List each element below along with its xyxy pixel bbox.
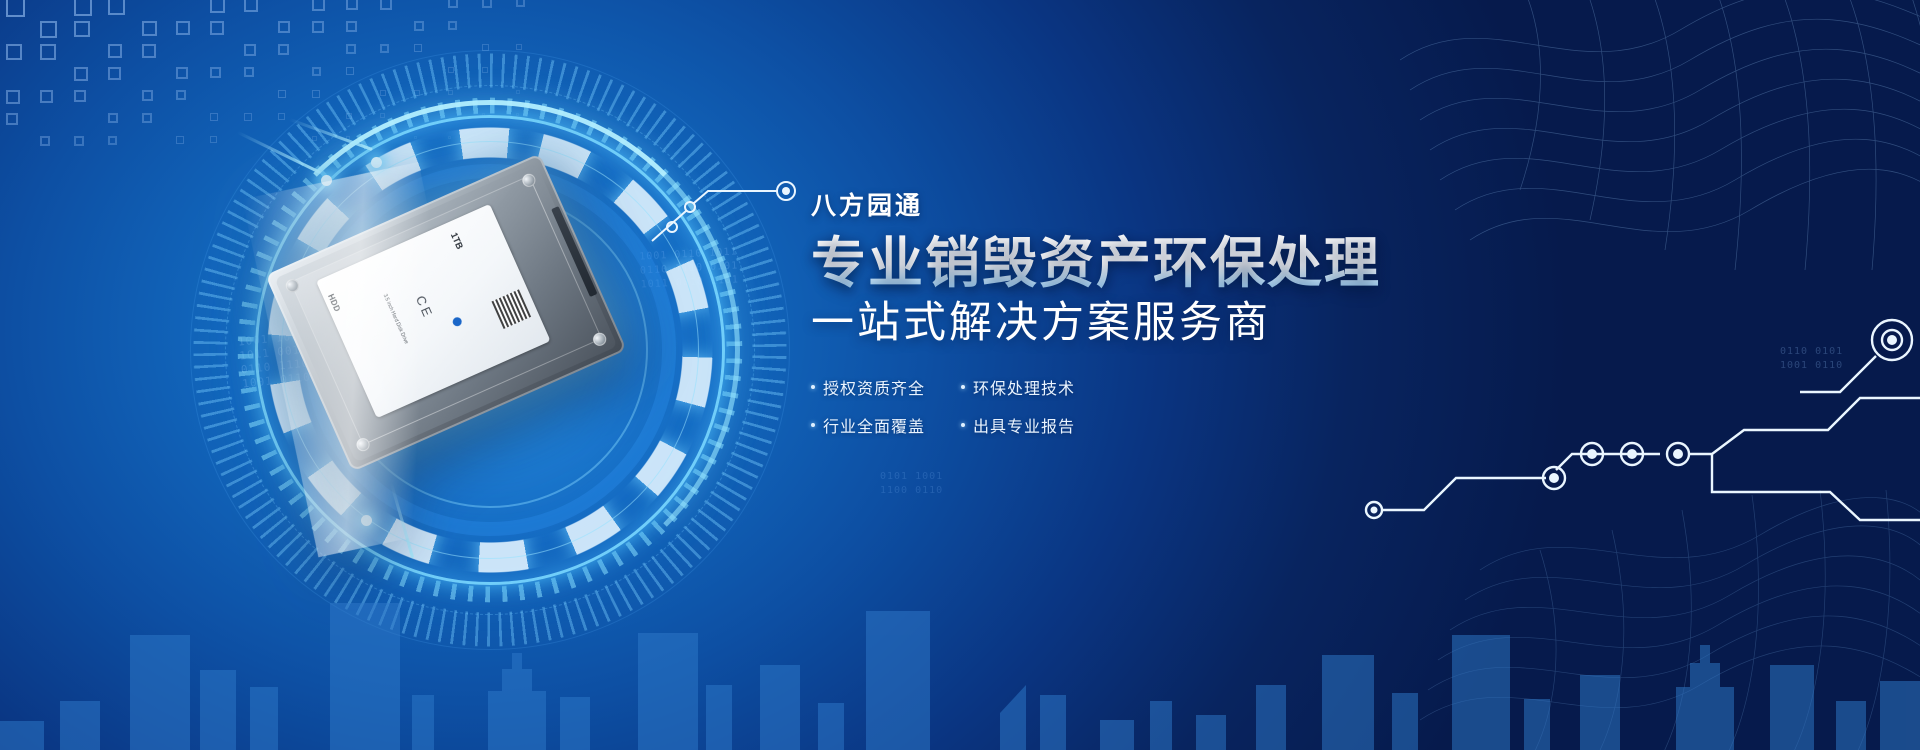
hdd-label-blue-dot xyxy=(451,316,463,328)
ring-node-dot-upper xyxy=(371,157,382,168)
page-subtitle: 一站式解决方案服务商 xyxy=(811,299,1451,348)
city-skyline-silhouette xyxy=(0,515,1920,750)
hdd-label-barcode xyxy=(491,289,531,329)
feature-item-1: 授权资质齐全 xyxy=(811,375,961,399)
hero-banner: 1001 1001 1001 1011 0010 1101 0110 1110 … xyxy=(0,0,1920,750)
page-title: 专业销毁资产环保处理 xyxy=(811,234,1451,293)
wire-mesh-top-right xyxy=(1400,0,1920,270)
feature-item-4-label: 出具专业报告 xyxy=(973,413,1075,437)
hdd-label-cert-marks: CE xyxy=(413,293,436,321)
feature-item-4: 出具专业报告 xyxy=(961,413,1075,437)
hdd-label-brand: HDD xyxy=(326,293,342,314)
hero-copy-block: 八方园通 专业销毁资产环保处理 一站式解决方案服务商 授权资质齐全 环保处理技术… xyxy=(811,186,1451,451)
ring-node-dot-top xyxy=(321,175,332,186)
bullet-dot-icon xyxy=(961,385,965,389)
brand-name: 八方园通 xyxy=(811,186,1451,222)
binary-code-texture-right: 0110 0101 1001 0110 xyxy=(1780,345,1843,373)
binary-code-texture-lower: 0101 1001 1100 0110 xyxy=(880,470,943,498)
feature-item-3: 行业全面覆盖 xyxy=(811,413,961,437)
feature-item-2: 环保处理技术 xyxy=(961,375,1075,399)
circuit-node-far-right xyxy=(1800,300,1920,420)
feature-row: 行业全面覆盖 出具专业报告 xyxy=(811,413,1141,437)
feature-list: 授权资质齐全 环保处理技术 行业全面覆盖 出具专业报告 xyxy=(811,375,1141,437)
bullet-dot-icon xyxy=(811,423,815,427)
feature-item-2-label: 环保处理技术 xyxy=(973,375,1075,399)
bullet-dot-icon xyxy=(961,423,965,427)
hdd-label-spec-text: 3.5 inch Hard Disk Drive xyxy=(382,293,409,345)
feature-item-1-label: 授权资质齐全 xyxy=(823,375,925,399)
hdd-label-capacity: 1TB xyxy=(449,231,465,251)
bullet-dot-icon xyxy=(811,385,815,389)
feature-row: 授权资质齐全 环保处理技术 xyxy=(811,375,1141,399)
feature-item-3-label: 行业全面覆盖 xyxy=(823,413,925,437)
